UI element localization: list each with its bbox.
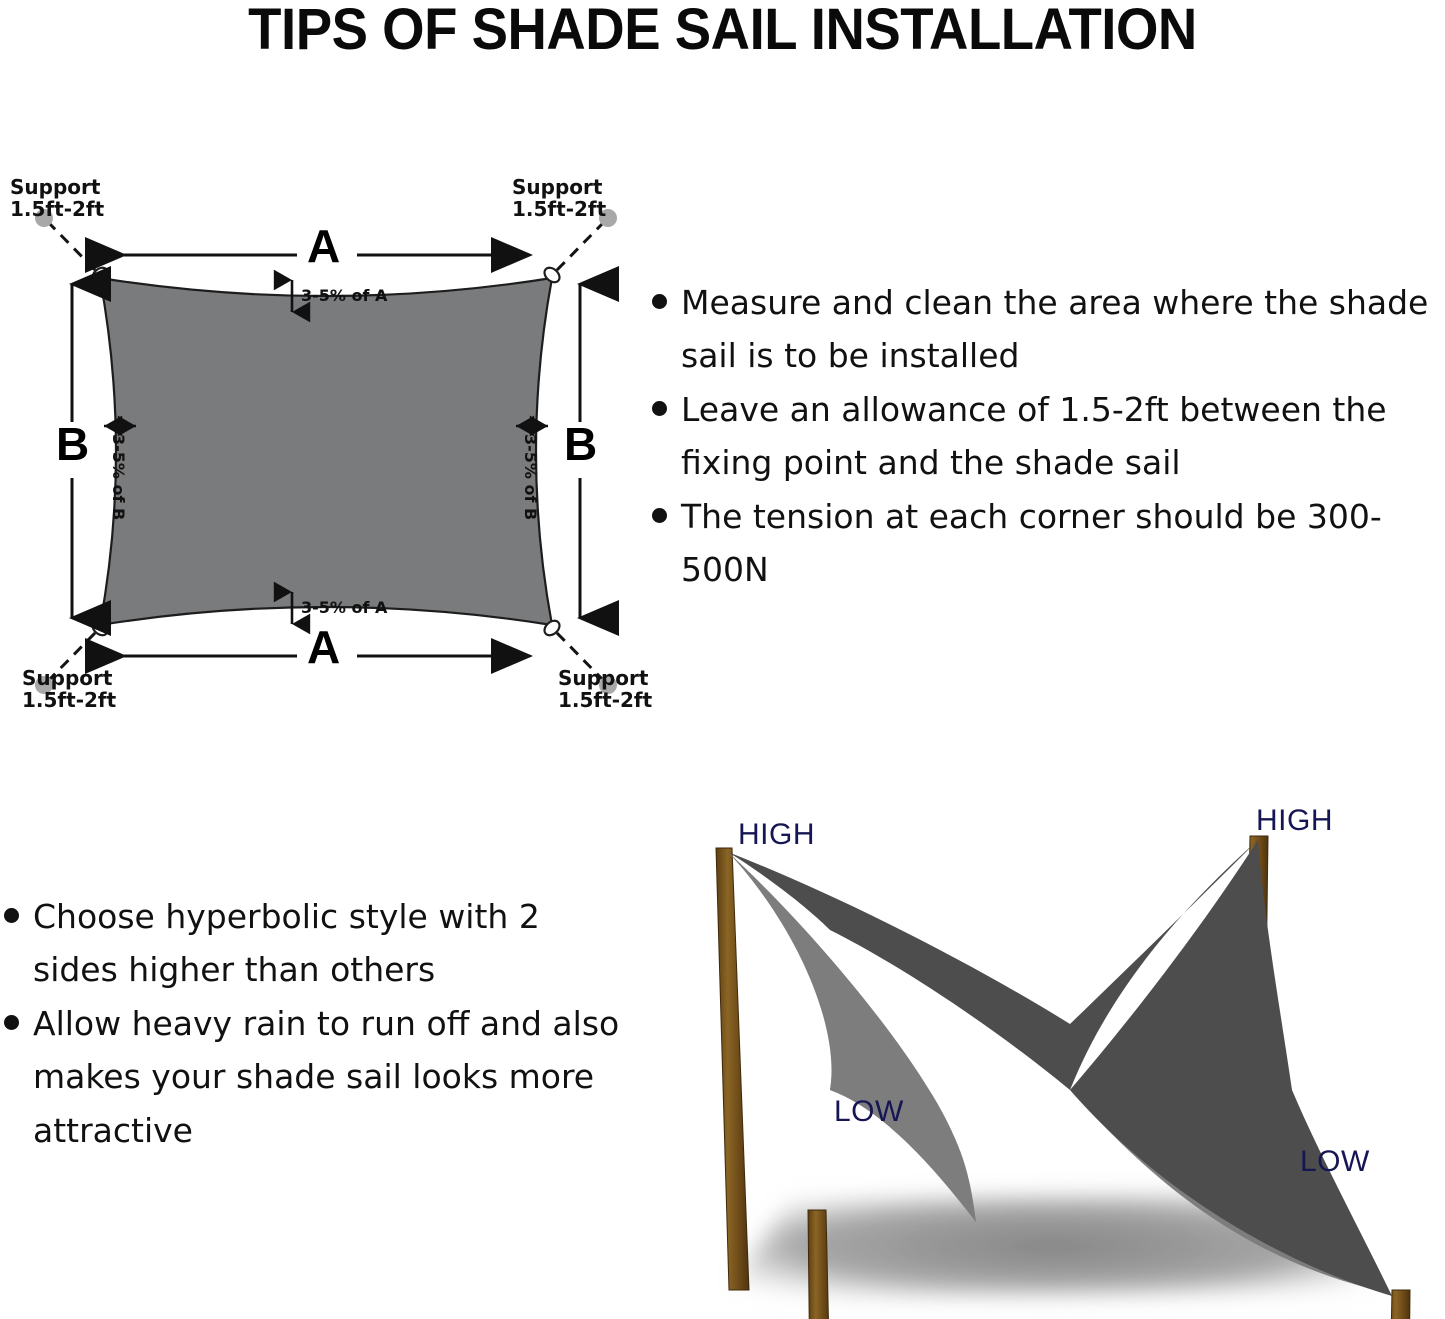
rect-sail-diagram: Support 1.5ft-2ft Support 1.5ft-2ft Supp… <box>0 160 660 730</box>
list-item-text: Measure and clean the area where the sha… <box>681 276 1445 383</box>
infographic-page: TIPS OF SHADE SAIL INSTALLATION <box>0 0 1445 1319</box>
list-item-text: The tension at each corner should be 300… <box>681 490 1445 597</box>
support-label-line1: Support <box>22 666 112 690</box>
bullet-dot-icon <box>4 908 19 923</box>
bullet-dot-icon <box>4 1015 19 1030</box>
bullet-dot-icon <box>652 294 667 309</box>
support-line-top-right <box>557 222 604 270</box>
support-label-bottom-right: Support 1.5ft-2ft <box>558 668 652 711</box>
support-label-line1: Support <box>558 666 648 690</box>
support-label-top-left: Support 1.5ft-2ft <box>10 177 104 220</box>
sag-label-bottom: 3-5% of A <box>301 600 387 616</box>
hyperbolic-style-tips-list: Choose hyperbolic style with 2 sides hig… <box>4 890 624 1157</box>
page-title: TIPS OF SHADE SAIL INSTALLATION <box>43 0 1401 63</box>
support-line-top-left <box>48 222 95 270</box>
dim-letter-b-right: B <box>564 421 597 467</box>
label-high-right: HIGH <box>1256 804 1333 838</box>
installation-tips-list: Measure and clean the area where the sha… <box>652 276 1445 597</box>
bullet-dot-icon <box>652 508 667 523</box>
list-item-text: Leave an allowance of 1.5-2ft between th… <box>681 383 1445 490</box>
support-label-line1: Support <box>512 175 602 199</box>
support-label-line2: 1.5ft-2ft <box>558 688 652 712</box>
hyperbolic-sail-svg <box>680 790 1445 1319</box>
list-item: Allow heavy rain to run off and also mak… <box>4 997 624 1157</box>
support-label-line1: Support <box>10 175 100 199</box>
support-label-line2: 1.5ft-2ft <box>10 197 104 221</box>
sag-label-top: 3-5% of A <box>301 288 387 304</box>
label-low-right: LOW <box>1300 1145 1370 1179</box>
support-label-line2: 1.5ft-2ft <box>22 688 116 712</box>
dim-letter-a-top: A <box>307 223 340 269</box>
support-label-line2: 1.5ft-2ft <box>512 197 606 221</box>
dim-letter-b-left: B <box>56 421 89 467</box>
label-low-left: LOW <box>834 1095 904 1129</box>
hyperbolic-sail-diagram: HIGH HIGH LOW LOW <box>680 790 1445 1319</box>
sag-label-left: 3-5% of B <box>110 434 126 520</box>
list-item-text: Choose hyperbolic style with 2 sides hig… <box>33 890 624 997</box>
post-high-left <box>716 848 749 1290</box>
list-item: The tension at each corner should be 300… <box>652 490 1445 597</box>
support-label-top-right: Support 1.5ft-2ft <box>512 177 606 220</box>
list-item: Choose hyperbolic style with 2 sides hig… <box>4 890 624 997</box>
support-label-bottom-left: Support 1.5ft-2ft <box>22 668 116 711</box>
list-item-text: Allow heavy rain to run off and also mak… <box>33 997 624 1157</box>
dim-letter-a-bottom: A <box>307 624 340 670</box>
bullet-dot-icon <box>652 401 667 416</box>
list-item: Leave an allowance of 1.5-2ft between th… <box>652 383 1445 490</box>
post-low-left <box>808 1210 830 1319</box>
label-high-left: HIGH <box>738 818 815 852</box>
shade-sail-shape <box>100 278 552 625</box>
post-low-right <box>1388 1290 1410 1319</box>
list-item: Measure and clean the area where the sha… <box>652 276 1445 383</box>
sag-label-right: 3-5% of B <box>522 434 538 520</box>
